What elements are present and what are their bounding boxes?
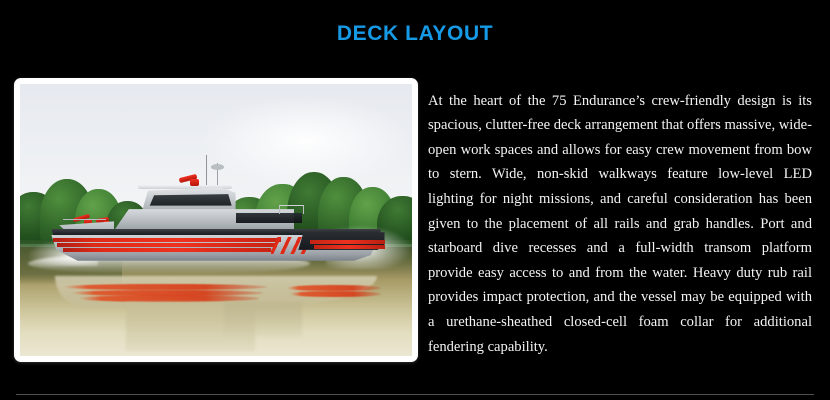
roof-water-monitor-base: [190, 179, 199, 186]
upper-rail: [279, 205, 305, 214]
aft-stripe-1: [310, 240, 384, 244]
boat-photo-frame: [14, 78, 418, 362]
deck-layout-section: DECK LAYOUT: [0, 0, 830, 400]
hull-stripe-2: [57, 243, 277, 247]
pilothouse-windows: [145, 194, 231, 205]
hull-stripe-1: [53, 238, 280, 242]
aft-stripe-2: [314, 245, 385, 249]
mast: [206, 155, 207, 188]
section-divider: [16, 394, 814, 395]
hull-stripe-3: [63, 248, 271, 252]
boat-photo: [20, 84, 412, 356]
content-row: At the heart of the 75 Endurance’s crew-…: [0, 74, 830, 369]
deck-layout-paragraph: At the heart of the 75 Endurance’s crew-…: [428, 89, 812, 360]
deckhouse-windows: [236, 213, 303, 223]
superstructure-reflection-aft: [224, 302, 302, 337]
page-title: DECK LAYOUT: [0, 20, 830, 48]
